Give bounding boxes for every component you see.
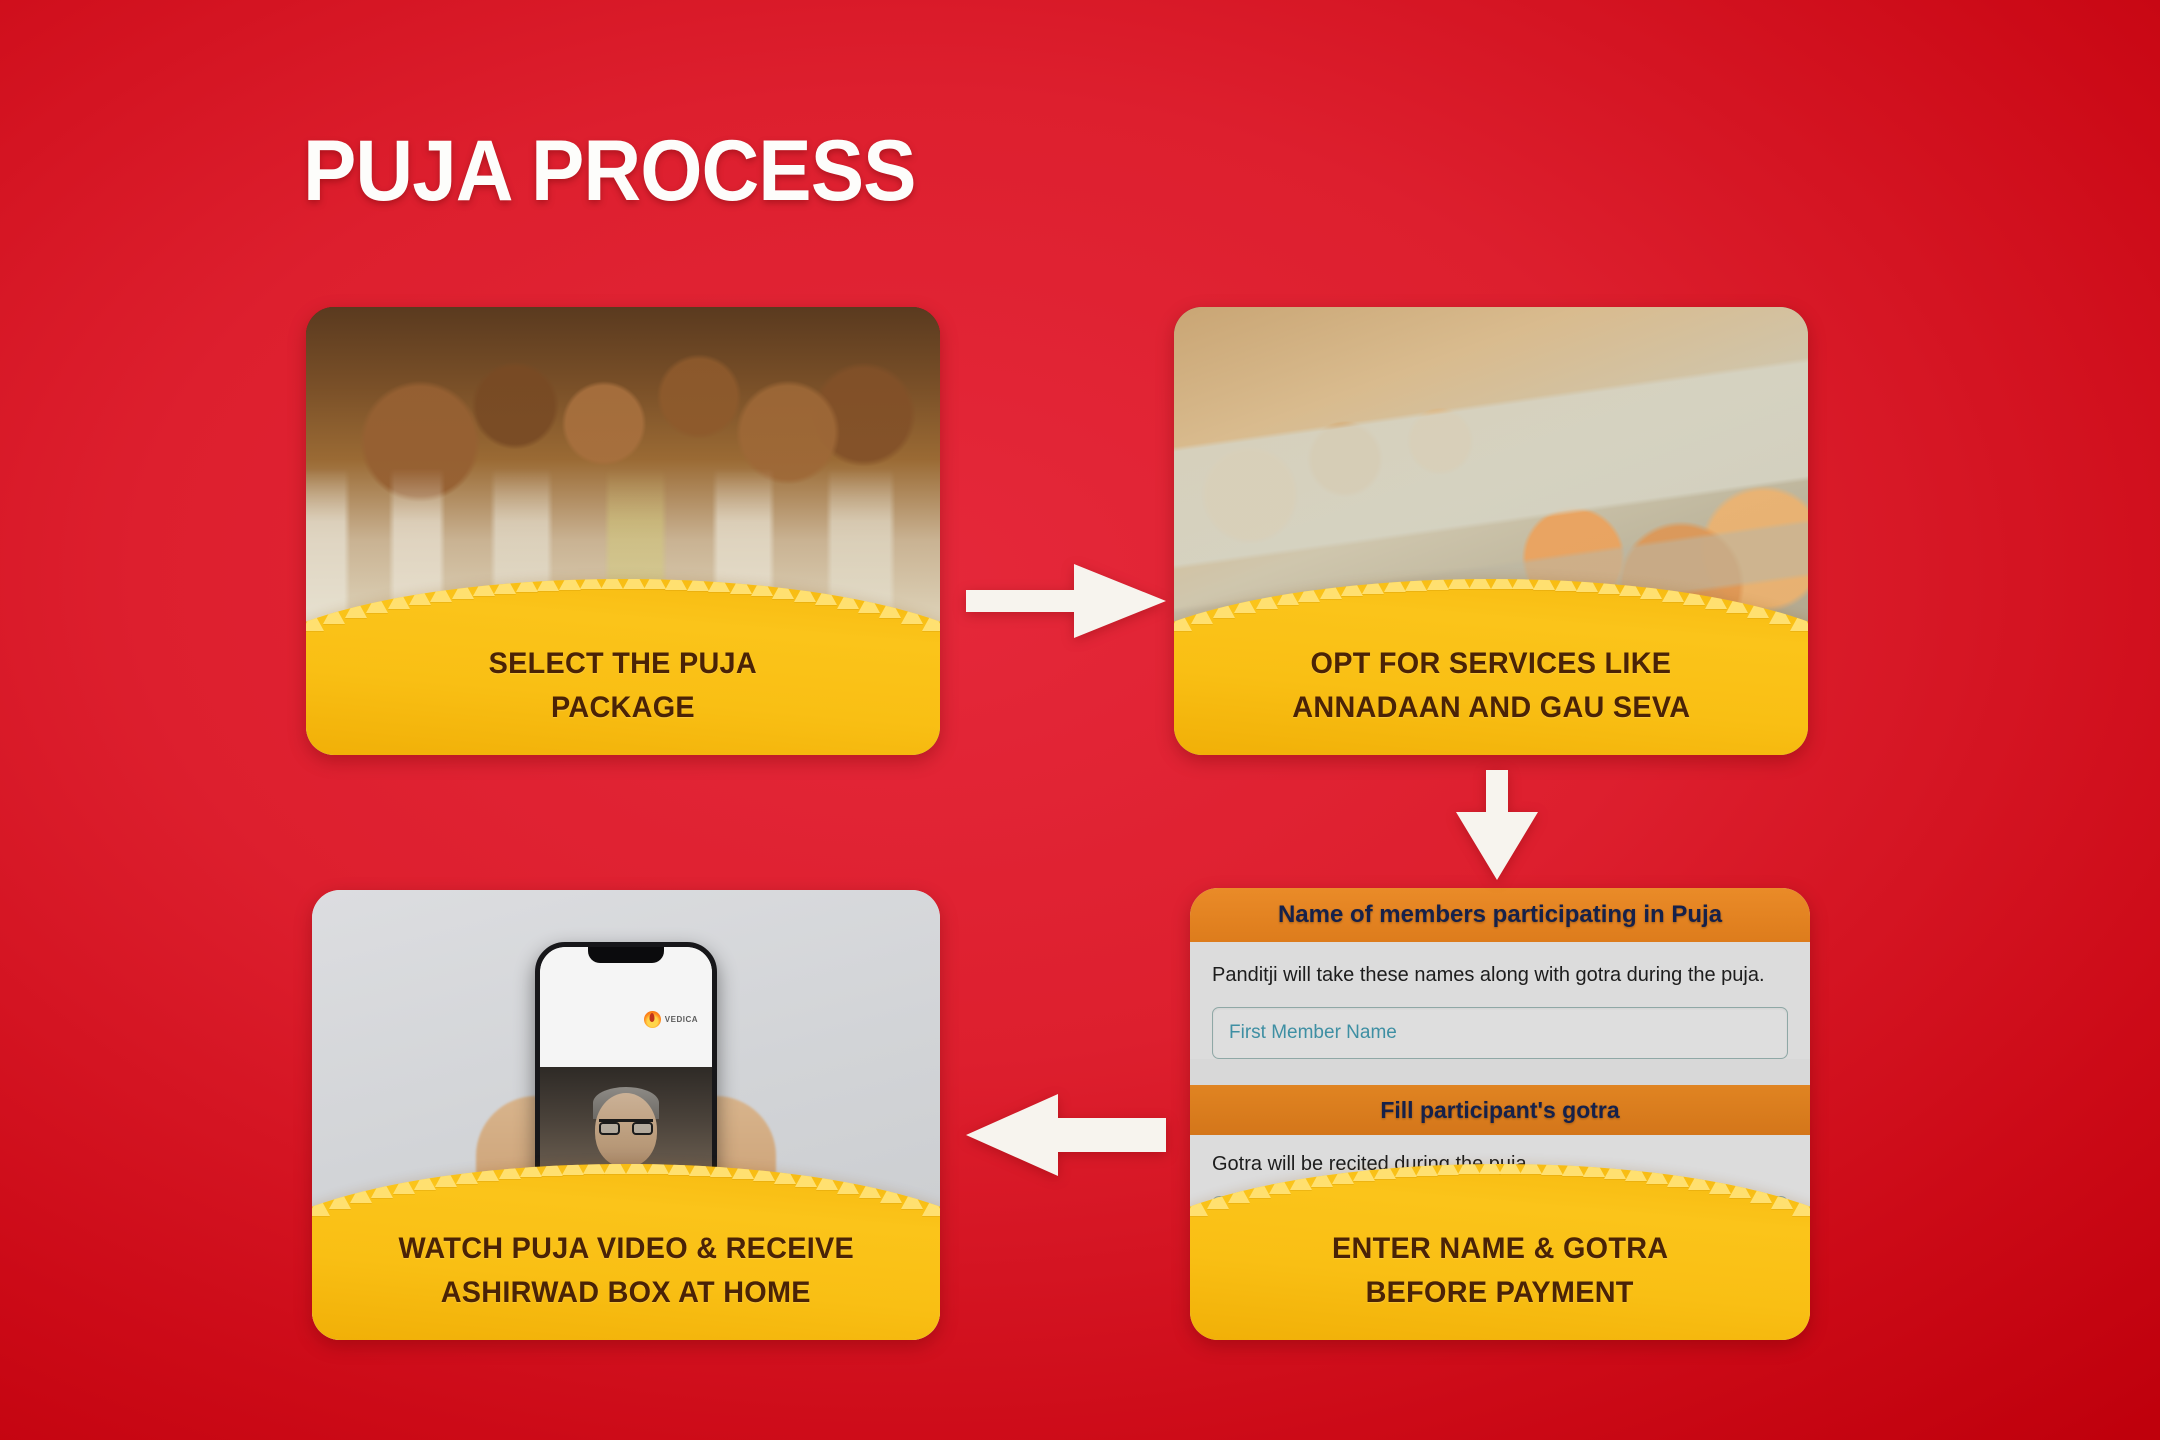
priests-performing-puja-photo (306, 307, 940, 755)
smartphone-device: VEDICA 0:22 / 1:00 🔊 ⛶ ⋮ (535, 942, 717, 1242)
brand-label: VEDICA (665, 1015, 698, 1024)
step-card-enter-name-gotra[interactable]: Name of members participating in Puja Pa… (1190, 888, 1810, 1340)
annadaan-meal-service-photo (1174, 307, 1808, 755)
phone-notch (588, 947, 664, 963)
arrow-step1-to-step2 (966, 556, 1166, 646)
form-note-members: Panditji will take these names along wit… (1212, 964, 1788, 987)
first-member-name-input[interactable]: First Member Name (1212, 1007, 1788, 1059)
volume-icon[interactable]: 🔊 (658, 1192, 672, 1203)
page-title: PUJA PROCESS (303, 122, 916, 221)
video-subject-glasses (599, 1119, 653, 1132)
arrow-step2-to-step3 (1452, 770, 1542, 880)
play-icon[interactable] (548, 1191, 557, 1203)
arrow-step3-to-step4 (966, 1090, 1166, 1180)
form-header-members: Name of members participating in Puja (1190, 888, 1810, 942)
gotra-input[interactable] (1212, 1196, 1788, 1248)
form-header-gotra: Fill participant's gotra (1190, 1085, 1810, 1135)
app-header-area: VEDICA (540, 947, 712, 1067)
phone-screen: VEDICA 0:22 / 1:00 🔊 ⛶ ⋮ (540, 947, 712, 1237)
fullscreen-icon[interactable]: ⛶ (678, 1192, 686, 1203)
brand-logo: VEDICA (644, 1011, 698, 1028)
flame-icon (644, 1011, 661, 1028)
step-caption-line2: BEFORE PAYMENT (1366, 1276, 1634, 1310)
kebab-menu-icon[interactable]: ⋮ (693, 1192, 704, 1203)
form-note-gotra: Gotra will be recited during the puja (1212, 1153, 1788, 1176)
step-card-opt-services[interactable]: OPT FOR SERVICES LIKE ANNADAAN AND GAU S… (1174, 307, 1808, 755)
video-timestamp: 0:22 / 1:00 (564, 1192, 607, 1202)
video-player[interactable]: 0:22 / 1:00 🔊 ⛶ ⋮ (540, 1067, 712, 1217)
step-card-watch-video[interactable]: VEDICA 0:22 / 1:00 🔊 ⛶ ⋮ (312, 890, 940, 1340)
video-progress-bar[interactable] (548, 1208, 704, 1211)
form-body: Panditji will take these names along wit… (1190, 942, 1810, 1059)
video-controls-bar[interactable]: 0:22 / 1:00 🔊 ⛶ ⋮ (540, 1177, 712, 1217)
step-card-select-package[interactable]: SELECT THE PUJA PACKAGE (306, 307, 940, 755)
form-body-gotra: Gotra will be recited during the puja (1190, 1135, 1810, 1248)
